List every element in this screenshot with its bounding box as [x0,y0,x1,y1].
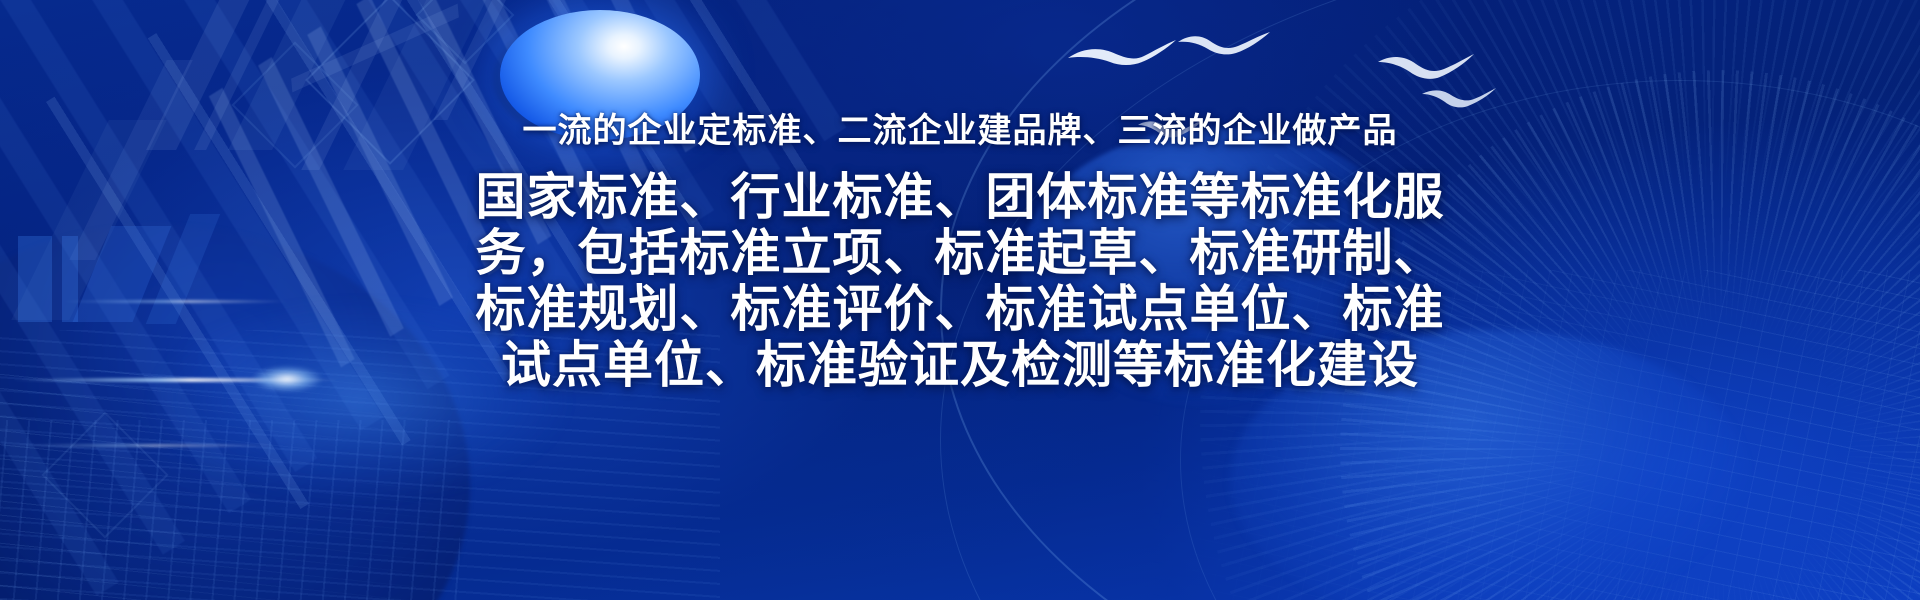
body-line-2: 务，包括标准立项、标准起草、标准研制、 [430,225,1490,281]
left-grid-lines-secondary [0,420,460,600]
banner-content: 一流的企业定标准、二流企业建品牌、三流的企业做产品 国家标准、行业标准、团体标准… [0,0,1920,393]
banner-headline: 一流的企业定标准、二流企业建品牌、三流的企业做产品 [0,112,1920,151]
diamond-outline-4 [41,411,168,538]
banner-body-text: 国家标准、行业标准、团体标准等标准化服 务，包括标准立项、标准起草、标准研制、 … [430,169,1490,393]
body-line-4: 试点单位、标准验证及检测等标准化建设 [430,337,1490,393]
light-streak-3 [0,444,280,447]
promo-banner: 一流的企业定标准、二流企业建品牌、三流的企业做产品 国家标准、行业标准、团体标准… [0,0,1920,600]
body-line-1: 国家标准、行业标准、团体标准等标准化服 [430,169,1490,225]
body-line-3: 标准规划、标准评价、标准试点单位、标准 [430,281,1490,337]
bottom-left-mesh [0,370,520,600]
